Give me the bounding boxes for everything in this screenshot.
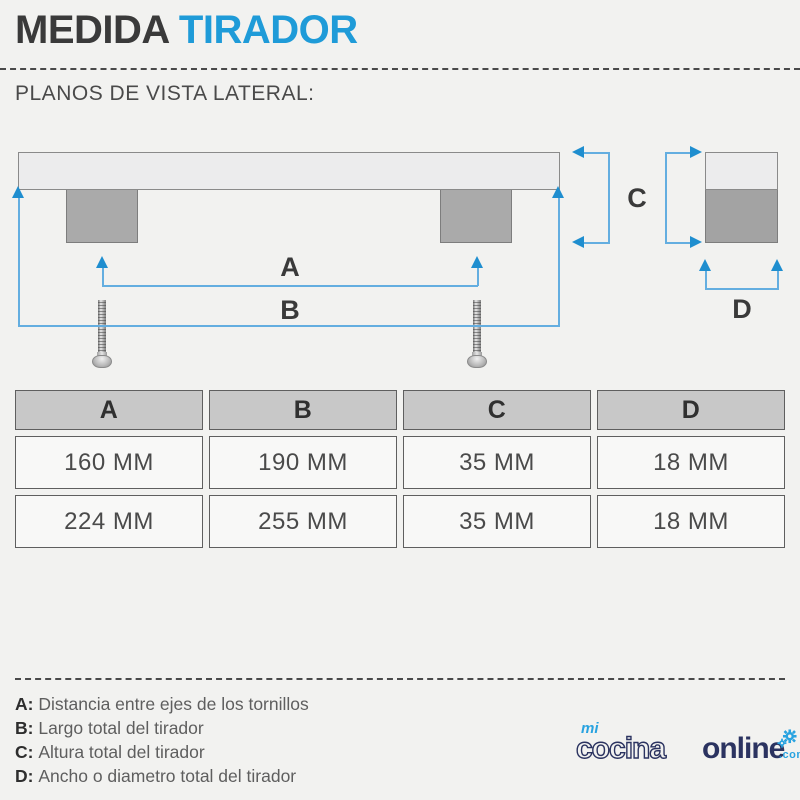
section-subtitle: PLANOS DE VISTA LATERAL: [15,82,315,106]
logo-text-com: .com [779,749,800,761]
dim-b-tick-left [18,198,20,326]
handle-bar-profile [18,152,560,190]
dim-a-arrow-right [471,256,483,268]
dim-d-tick-left [705,271,707,289]
screw-head [92,355,112,368]
table-cell: 35 MM [403,495,591,548]
screw-left [92,300,112,368]
dim-a-tick-left [102,268,104,286]
dim-a-tick-right [477,268,479,286]
handle-leg-left [66,190,138,243]
page-title-accent: TIRADOR [179,8,358,52]
table-cell: 35 MM [403,436,591,489]
dim-c-left-arrow-bottom [572,236,584,248]
endview-bottom-section [705,190,778,243]
logo-text-online: online [702,732,784,766]
table-cell: 18 MM [597,436,785,489]
table-cell: 224 MM [15,495,203,548]
legend-value: Altura total del tirador [38,742,204,762]
dim-c-right-arrow-bottom [690,236,702,248]
table-row: 160 MM 190 MM 35 MM 18 MM [15,436,785,489]
brand-logo[interactable]: mi cocina online [576,722,786,774]
dim-b-arrow-right [552,186,564,198]
table-header-c: C [403,390,591,430]
page-title-primary: MEDIDA [15,8,168,52]
dim-d-tick-right [777,271,779,289]
table-cell: 18 MM [597,495,785,548]
dim-c-left-arrow-top [572,146,584,158]
dim-d-label: D [717,294,767,325]
dim-c-left-bottom-line [582,242,609,244]
legend: A: Distancia entre ejes de los tornillos… [15,692,309,788]
screw-threads [98,302,106,356]
legend-key: D: [15,766,33,786]
dim-d-arrow-left [699,259,711,271]
dim-b-tick-right [558,198,560,326]
legend-value: Distancia entre ejes de los tornillos [38,694,308,714]
legend-item: B: Largo total del tirador [15,716,309,740]
legend-key: C: [15,742,33,762]
dim-c-right-arrow-top [690,146,702,158]
table-header-d: D [597,390,785,430]
dim-c-label: C [613,183,661,214]
table-cell: 255 MM [209,495,397,548]
screw-head [467,355,487,368]
table-header-a: A [15,390,203,430]
measurements-table: A B C D 160 MM 190 MM 35 MM 18 MM 224 MM… [15,390,785,554]
legend-item: D: Ancho o diametro total del tirador [15,764,309,788]
legend-key: B: [15,718,33,738]
header-divider [0,68,800,70]
screw-right [467,300,487,368]
handle-leg-right [440,190,512,243]
legend-item: C: Altura total del tirador [15,740,309,764]
dim-c-right-bottom-line [665,242,692,244]
dim-a-line [102,285,478,287]
dim-b-label: B [240,295,340,326]
dim-a-arrow-left [96,256,108,268]
legend-value: Ancho o diametro total del tirador [38,766,296,786]
legend-item: A: Distancia entre ejes de los tornillos [15,692,309,716]
table-header-row: A B C D [15,390,785,430]
screw-threads [473,302,481,356]
table-row: 224 MM 255 MM 35 MM 18 MM [15,495,785,548]
dim-c-right-spine [665,152,667,244]
dim-d-line [705,288,779,290]
legend-value: Largo total del tirador [38,718,203,738]
footer-divider [15,678,785,680]
dim-c-left-top-line [582,152,609,154]
endview-top-section [705,152,778,190]
dim-c-left-spine [608,152,610,244]
dim-d-arrow-right [771,259,783,271]
technical-drawing: A B C D [0,130,800,385]
dim-c-right-top-line [665,152,692,154]
logo-text-cocina: cocina [576,732,665,766]
dim-a-label: A [240,252,340,283]
table-header-b: B [209,390,397,430]
legend-key: A: [15,694,33,714]
table-cell: 190 MM [209,436,397,489]
dim-b-arrow-left [12,186,24,198]
page-title: MEDIDA TIRADOR [15,8,358,53]
table-cell: 160 MM [15,436,203,489]
